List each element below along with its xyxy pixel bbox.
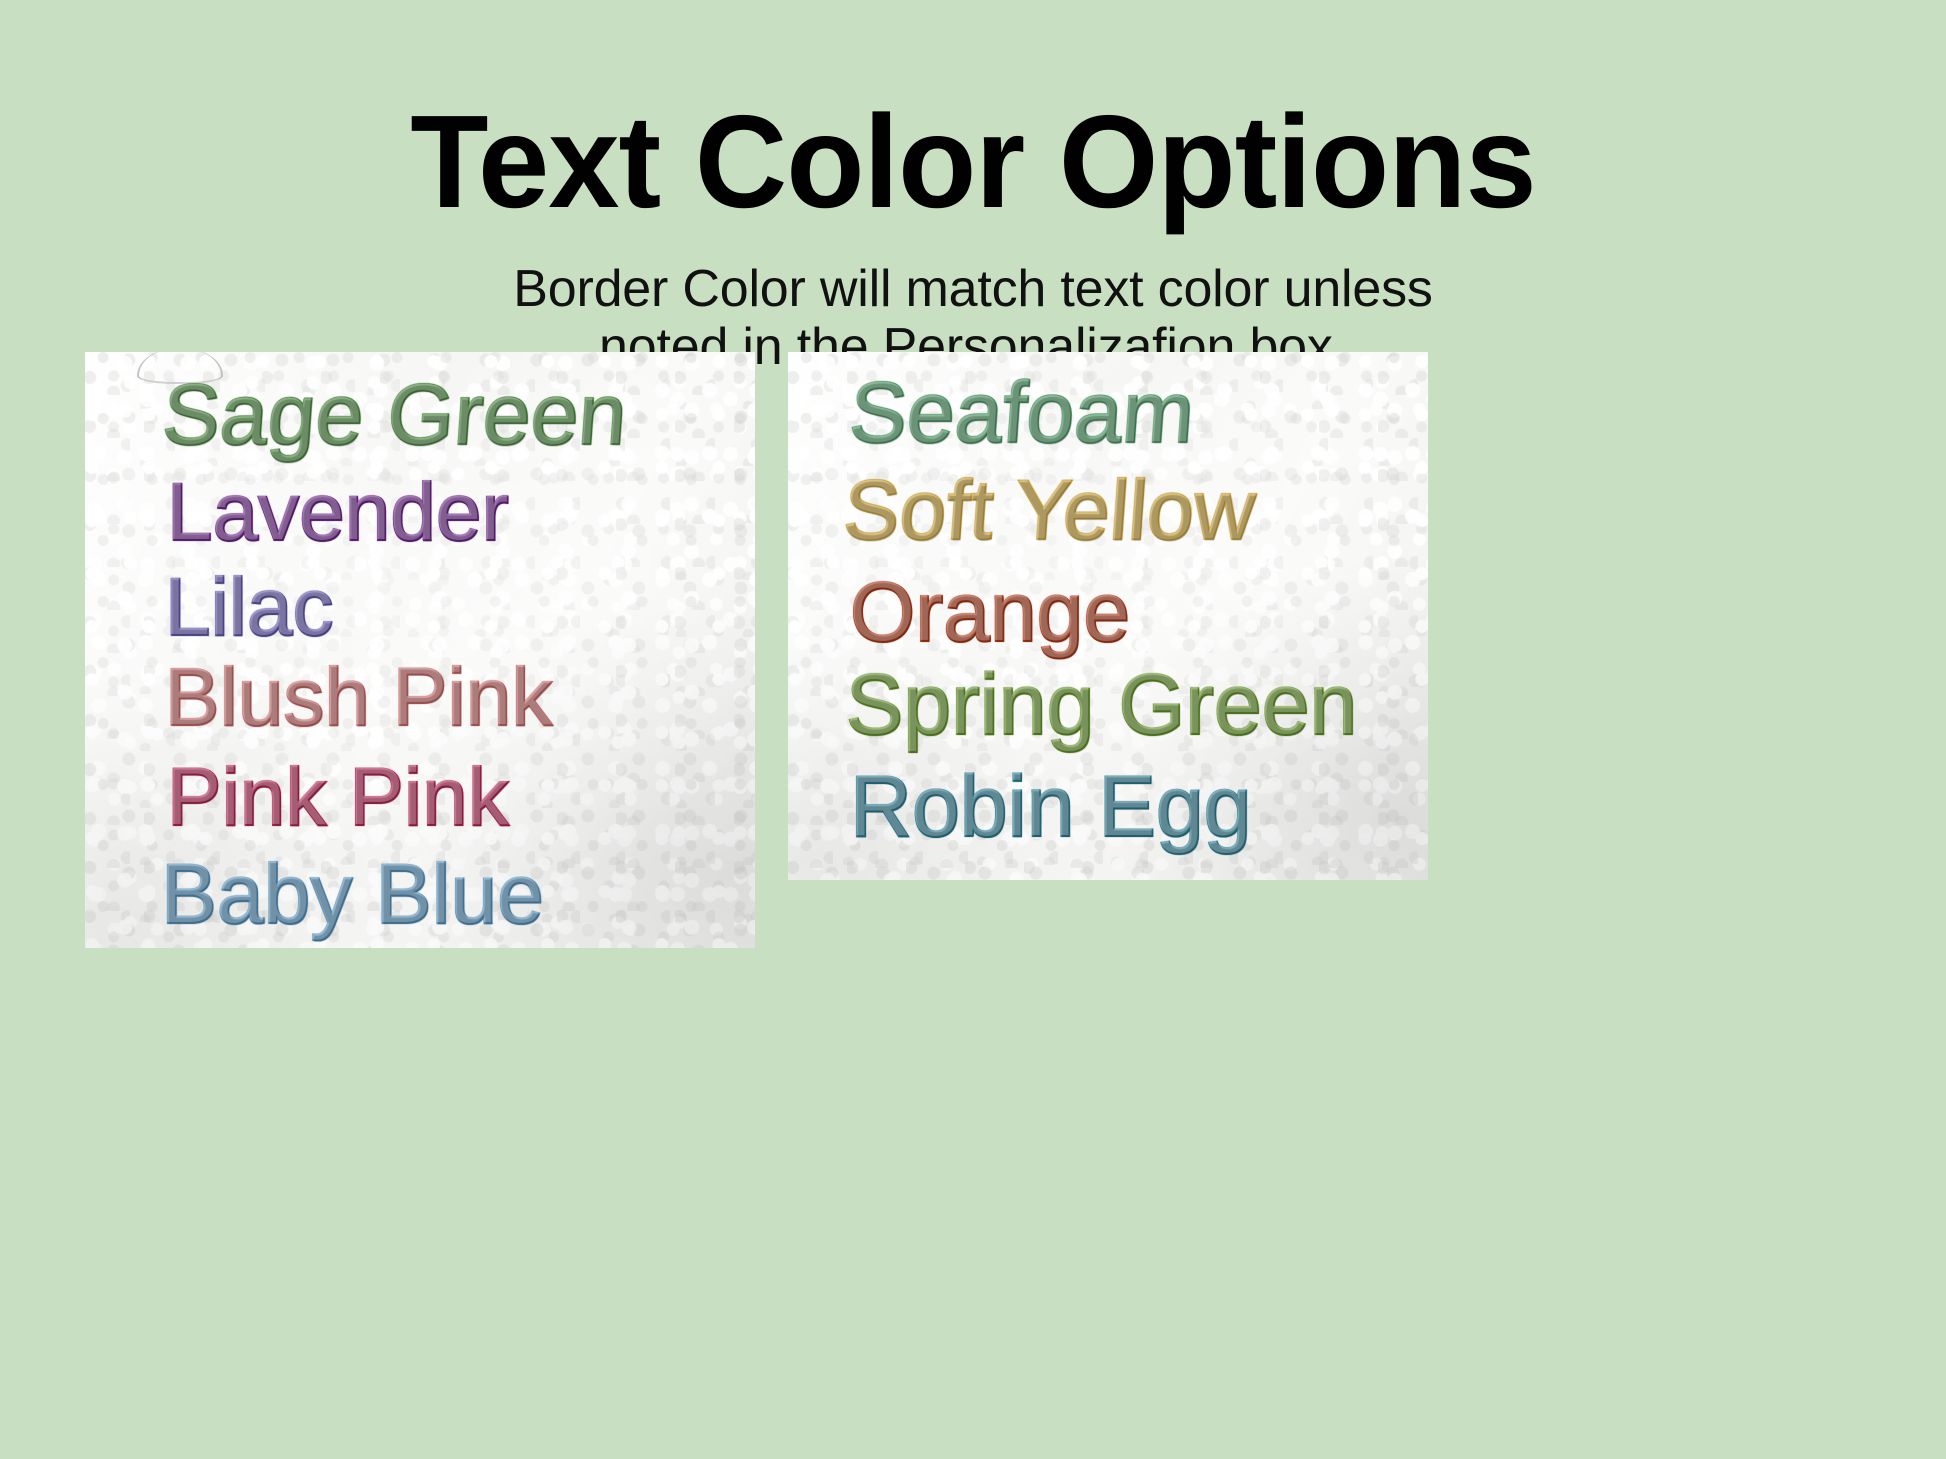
right-fabric-swatch-photo: SeafoamSoft YellowOrangeSpring GreenRobi… bbox=[788, 352, 1428, 880]
poster-canvas: Text Color Options Border Color will mat… bbox=[0, 0, 1946, 1459]
heading-block: Text Color Options Border Color will mat… bbox=[0, 0, 1946, 376]
color-swatch-text: Seafoam bbox=[847, 370, 1197, 456]
subtitle-line-1: Border Color will match text color unles… bbox=[0, 260, 1946, 318]
color-swatch-list: SeafoamSoft YellowOrangeSpring GreenRobi… bbox=[788, 352, 1428, 880]
left-fabric-swatch-photo: Sage GreenLavenderLilacBlush PinkPink Pi… bbox=[85, 352, 755, 948]
color-swatch-label: Pink Pink bbox=[167, 757, 509, 839]
color-swatch-text: Lavender bbox=[167, 472, 509, 554]
color-swatch-label: Blush Pink bbox=[165, 657, 552, 739]
color-swatch-text: Spring Green bbox=[846, 662, 1358, 748]
color-swatch-text: Sage Green bbox=[160, 372, 630, 458]
color-swatch-label: Soft Yellow bbox=[841, 468, 1258, 552]
color-swatch-label: Lavender bbox=[167, 472, 509, 554]
color-swatch-text: Orange bbox=[850, 570, 1130, 654]
page-title: Text Color Options bbox=[29, 0, 1917, 228]
color-swatch-label: Seafoam bbox=[847, 370, 1197, 456]
color-swatch-label: Baby Blue bbox=[161, 852, 544, 936]
color-swatch-label: Robin Egg bbox=[850, 764, 1252, 850]
color-swatch-text: Baby Blue bbox=[161, 852, 544, 936]
color-swatch-text: Lilac bbox=[165, 567, 334, 649]
color-swatch-text: Robin Egg bbox=[850, 764, 1252, 850]
color-swatch-text: Soft Yellow bbox=[841, 468, 1258, 552]
color-swatch-label: Lilac bbox=[165, 567, 334, 649]
color-swatch-text: Pink Pink bbox=[167, 757, 509, 839]
color-swatch-label: Orange bbox=[850, 570, 1130, 654]
color-swatch-label: Spring Green bbox=[846, 662, 1358, 748]
color-swatch-text: Blush Pink bbox=[165, 657, 552, 739]
color-swatch-label: Sage Green bbox=[160, 372, 630, 458]
color-swatch-list: Sage GreenLavenderLilacBlush PinkPink Pi… bbox=[85, 352, 755, 948]
